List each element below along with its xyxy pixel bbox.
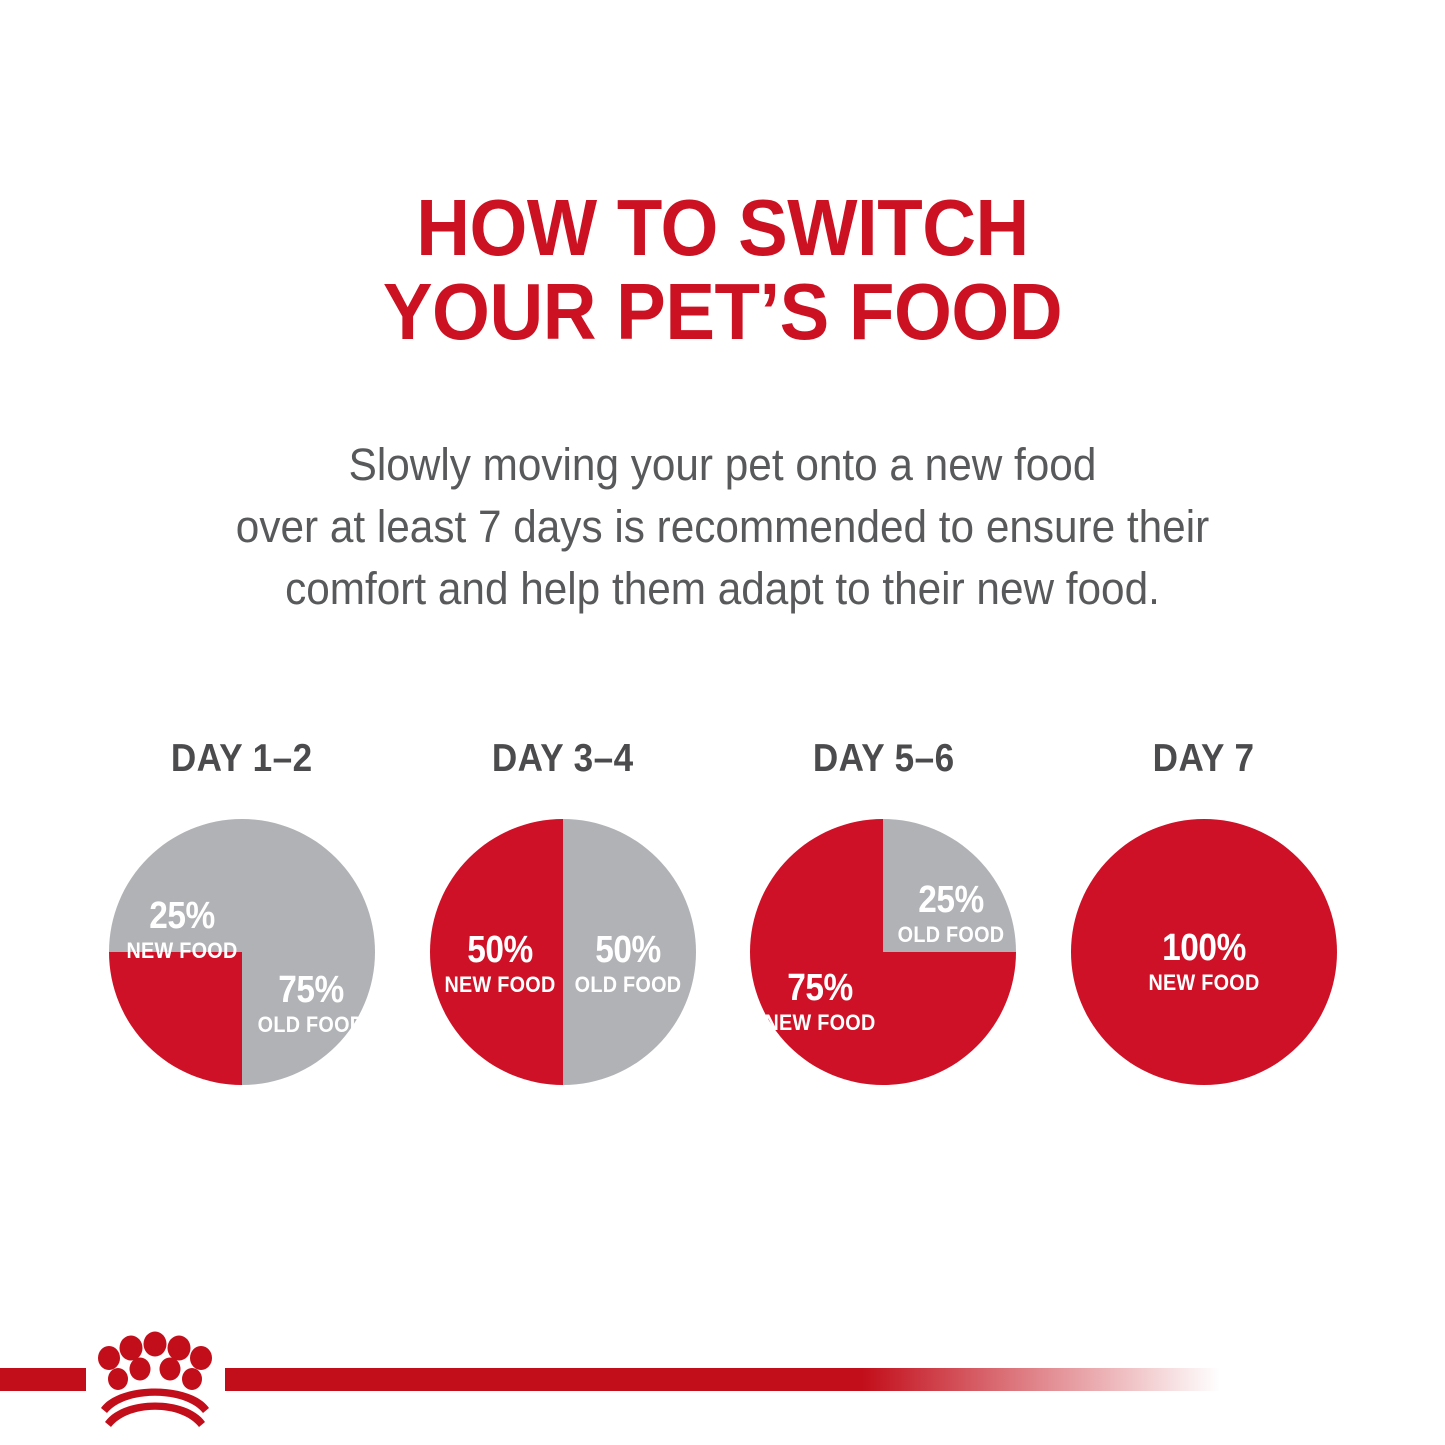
- slice-label-new-food-1: 25% NEW FOOD: [117, 897, 247, 962]
- slice-label-new-food-2: 50% NEW FOOD: [436, 931, 564, 996]
- slice-pct-new-4: 100%: [1087, 929, 1321, 967]
- page-title-line-1: HOW TO SWITCH: [51, 186, 1395, 270]
- intro-line-2: over at least 7 days is recommended to e…: [43, 496, 1401, 558]
- pie-wrap-3: 25% OLD FOOD 75% NEW FOOD: [750, 819, 1016, 1085]
- pie-chart-day-7: DAY 7 100% NEW FOOD: [1054, 737, 1354, 1085]
- slice-pct-new-3: 75%: [764, 969, 877, 1007]
- slice-pct-old-1: 75%: [255, 971, 368, 1009]
- slice-label-old-food-2: 50% OLD FOOD: [564, 931, 692, 996]
- slice-name-old-2: OLD FOOD: [570, 974, 685, 996]
- page-title-line-2: YOUR PET’S FOOD: [51, 270, 1395, 354]
- slice-name-new-4: NEW FOOD: [1084, 972, 1323, 994]
- page-title: HOW TO SWITCH YOUR PET’S FOOD: [51, 186, 1395, 354]
- slice-pct-old-2: 50%: [571, 931, 684, 969]
- pie-chart-row: DAY 1–2 25% NEW FOOD 75% OLD FOOD DAY 3–…: [92, 737, 1354, 1117]
- pie-wrap-1: 25% NEW FOOD 75% OLD FOOD: [109, 819, 375, 1085]
- slice-pct-new-2: 50%: [443, 931, 556, 969]
- pie-slices-3: [750, 819, 1016, 1085]
- pie-wrap-4: 100% NEW FOOD: [1071, 819, 1337, 1085]
- slice-name-old-1: OLD FOOD: [253, 1014, 368, 1036]
- royal-canin-crown-icon: [85, 1330, 225, 1435]
- pie-chart-day-5-6: DAY 5–6 25% OLD FOOD 75% NEW FOOD: [733, 737, 1033, 1085]
- day-label-4: DAY 7: [1153, 737, 1255, 785]
- slice-name-new-1: NEW FOOD: [124, 940, 241, 962]
- intro-paragraph: Slowly moving your pet onto a new food o…: [43, 434, 1401, 620]
- intro-line-1: Slowly moving your pet onto a new food: [43, 434, 1401, 496]
- intro-line-3: comfort and help them adapt to their new…: [43, 558, 1401, 620]
- footer-bar-left: [0, 1368, 86, 1391]
- slice-label-new-food-3: 75% NEW FOOD: [756, 969, 884, 1034]
- day-label-3: DAY 5–6: [812, 737, 954, 785]
- pie-chart-day-1-2: DAY 1–2 25% NEW FOOD 75% OLD FOOD: [92, 737, 392, 1085]
- day-label-2: DAY 3–4: [492, 737, 634, 785]
- slice-name-old-3: OLD FOOD: [896, 924, 1006, 946]
- pie-chart-day-3-4: DAY 3–4 50% NEW FOOD 50% OLD FOOD: [413, 737, 713, 1085]
- slice-pct-new-1: 25%: [125, 897, 239, 935]
- footer-bar-right: [225, 1368, 1220, 1391]
- slice-label-old-food-3: 25% OLD FOOD: [890, 881, 1012, 946]
- slice-name-new-3: NEW FOOD: [763, 1012, 878, 1034]
- footer: [0, 1330, 1445, 1445]
- slice-pct-old-3: 25%: [898, 881, 1005, 919]
- slice-label-new-food-4: 100% NEW FOOD: [1071, 929, 1337, 994]
- slice-label-old-food-1: 75% OLD FOOD: [247, 971, 375, 1036]
- pie-wrap-2: 50% NEW FOOD 50% OLD FOOD: [430, 819, 696, 1085]
- slice-name-new-2: NEW FOOD: [442, 974, 557, 996]
- day-label-1: DAY 1–2: [171, 737, 313, 785]
